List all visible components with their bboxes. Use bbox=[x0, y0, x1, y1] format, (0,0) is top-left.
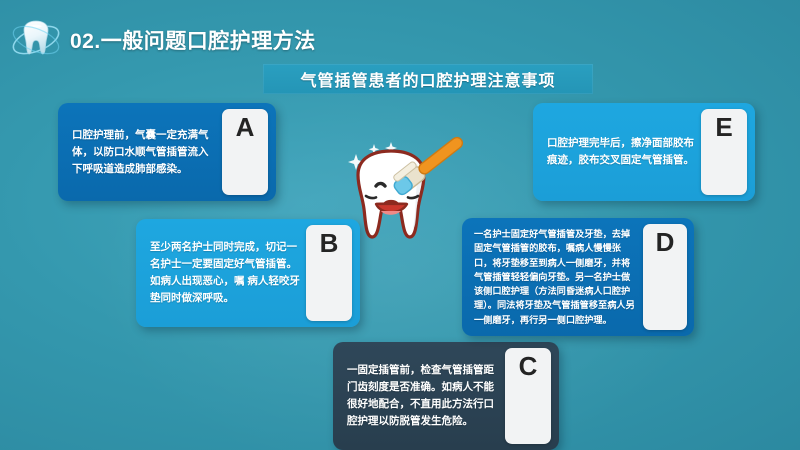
info-card-a-text: 口腔护理前，气囊一定充满气体，以防口水顺气管插管流入下呼吸道造成肺部感染。 bbox=[72, 127, 216, 178]
info-card-b[interactable]: 至少两名护士同时完成，切记一名护士一定要固定好气管插管。如病人出现恶心，嘱 病人… bbox=[136, 219, 360, 327]
info-card-d-letter: D bbox=[656, 229, 675, 255]
info-card-d-body: 一名护士固定好气管插管及牙垫，去掉固定气管插管的胶布，嘱病人慢慢张口，将牙垫移至… bbox=[462, 218, 643, 336]
info-card-a-letter-badge: A bbox=[222, 109, 268, 195]
slide-header: 02.一般问题口腔护理方法 bbox=[8, 14, 316, 66]
info-card-c[interactable]: 一固定插管前，检查气管插管距门齿刻度是否准确。如病人不能很好地配合，不直用此方法… bbox=[333, 342, 559, 450]
info-card-b-letter: B bbox=[320, 230, 339, 256]
info-card-e-letter-badge: E bbox=[701, 109, 747, 195]
info-card-b-letter-badge: B bbox=[306, 225, 352, 321]
info-card-b-body: 至少两名护士同时完成，切记一名护士一定要固定好气管插管。如病人出现恶心，嘱 病人… bbox=[136, 219, 306, 327]
info-card-d[interactable]: 一名护士固定好气管插管及牙垫，去掉固定气管插管的胶布，嘱病人慢慢张口，将牙垫移至… bbox=[462, 218, 694, 336]
subtitle-text: 气管插管患者的口腔护理注意事项 bbox=[300, 67, 555, 91]
info-card-c-body: 一固定插管前，检查气管插管距门齿刻度是否准确。如病人不能很好地配合，不直用此方法… bbox=[333, 342, 505, 450]
info-card-c-letter: C bbox=[519, 353, 538, 379]
info-card-a[interactable]: 口腔护理前，气囊一定充满气体，以防口水顺气管插管流入下呼吸道造成肺部感染。 A bbox=[58, 103, 276, 201]
info-card-d-letter-badge: D bbox=[643, 224, 687, 330]
info-card-c-letter-badge: C bbox=[505, 348, 551, 444]
info-card-e-body: 口腔护理完毕后，擦净面部胶布痕迹，胶布交叉固定气管插管。 bbox=[533, 103, 701, 201]
info-card-d-text: 一名护士固定好气管插管及牙垫，去掉固定气管插管的胶布，嘱病人慢慢张口，将牙垫移至… bbox=[474, 227, 639, 327]
info-card-e-text: 口腔护理完毕后，擦净面部胶布痕迹，胶布交叉固定气管插管。 bbox=[547, 135, 695, 169]
info-card-a-letter: A bbox=[236, 114, 255, 140]
info-card-b-text: 至少两名护士同时完成，切记一名护士一定要固定好气管插管。如病人出现恶心，嘱 病人… bbox=[150, 239, 300, 307]
info-card-e-letter: E bbox=[715, 114, 732, 140]
info-card-c-text: 一固定插管前，检查气管插管距门齿刻度是否准确。如病人不能很好地配合，不直用此方法… bbox=[347, 362, 499, 430]
tooth-icon bbox=[8, 14, 64, 66]
subtitle-banner: 气管插管患者的口腔护理注意事项 bbox=[263, 64, 593, 94]
page-title: 02.一般问题口腔护理方法 bbox=[70, 25, 316, 55]
slide-canvas: 02.一般问题口腔护理方法 气管插管患者的口腔护理注意事项 bbox=[0, 0, 800, 450]
info-card-e[interactable]: 口腔护理完毕后，擦净面部胶布痕迹，胶布交叉固定气管插管。 E bbox=[533, 103, 755, 201]
info-card-a-body: 口腔护理前，气囊一定充满气体，以防口水顺气管插管流入下呼吸道造成肺部感染。 bbox=[58, 103, 222, 201]
